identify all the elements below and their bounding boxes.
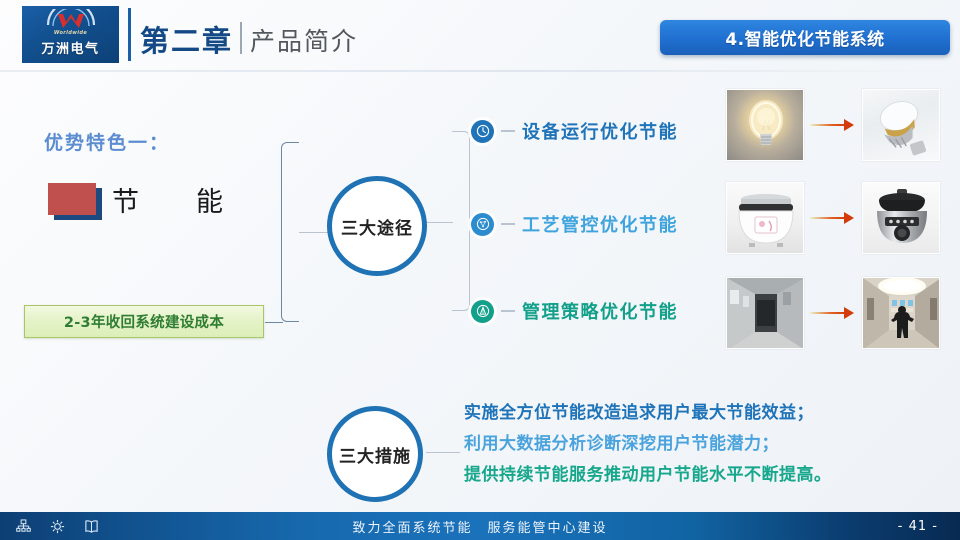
three-measures-circle: 三大措施: [327, 406, 423, 502]
header-accent-line: [0, 70, 960, 72]
path-label-0: 设备运行优化节能: [522, 118, 678, 144]
section-banner: 4.智能优化节能系统: [660, 20, 950, 55]
feature-label: 优势特色一：: [44, 128, 170, 155]
energy-keyword: 节 能: [112, 180, 224, 219]
incandescent-bulb-image: [726, 89, 804, 161]
w-logo-icon: [44, 9, 98, 31]
path-item-equipment[interactable]: 设备运行优化节能: [471, 118, 678, 144]
lit-corridor-image: [862, 277, 940, 349]
measure-line-1: 利用大数据分析诊断深挖用户节能潜力；: [464, 429, 954, 460]
right-bracket-connector: [452, 131, 470, 311]
measure-line-2: 提供持续节能服务推动用户节能水平不断提高。: [464, 460, 954, 491]
orange-arrow-icon: [804, 113, 862, 137]
path-item-process[interactable]: 工艺管控优化节能: [471, 211, 678, 237]
three-measures-label: 三大措施: [339, 442, 411, 467]
image-row-corridor: [726, 277, 940, 349]
title-separator: [240, 22, 242, 54]
leaf-icon: [471, 300, 494, 323]
measure-line-0: 实施全方位节能改造追求用户最大节能效益；: [464, 398, 954, 429]
path-dash-1: [501, 223, 515, 224]
slide-canvas: Worldwide 万洲电气 第二章 产品简介 4.智能优化节能系统 优势特色一…: [0, 0, 960, 540]
payback-callout-label: 2-3年收回系统建设成本: [64, 311, 224, 332]
path-item-management[interactable]: 管理策略优化节能: [471, 298, 678, 324]
company-logo: Worldwide 万洲电气: [22, 6, 119, 63]
left-bracket-stub: [265, 322, 283, 323]
chapter-subtitle: 产品简介: [250, 22, 358, 58]
pressure-cooker-image: [862, 182, 940, 254]
orange-arrow-icon: [804, 206, 862, 230]
image-row-cooker: [726, 182, 940, 254]
path-label-2: 管理策略优化节能: [522, 298, 678, 324]
rice-cooker-image: [726, 182, 804, 254]
measures-text-block: 实施全方位节能改造追求用户最大节能效益； 利用大数据分析诊断深挖用户节能潜力； …: [464, 398, 954, 491]
dark-corridor-image: [726, 277, 804, 349]
payback-callout: 2-3年收回系统建设成本: [24, 305, 264, 338]
header-divider: [128, 8, 131, 61]
paths-circle-right-stub: [426, 222, 453, 223]
path-dash-0: [501, 130, 515, 131]
footer-slogan: 致力全面系统节能 服务能管中心建设: [0, 517, 960, 536]
measures-circle-stub: [426, 452, 460, 453]
section-banner-label: 4.智能优化节能系统: [725, 25, 884, 50]
network-icon: [471, 213, 494, 236]
color-swatch: [48, 183, 96, 215]
three-paths-circle: 三大途径: [327, 176, 427, 276]
page-number: - 41 -: [898, 519, 938, 534]
paths-circle-left-stub: [299, 232, 329, 233]
left-bracket-connector: [281, 142, 299, 322]
chapter-title: 第二章: [140, 18, 233, 60]
image-row-lighting: [726, 89, 940, 161]
led-bulb-image: [862, 89, 940, 161]
three-paths-label: 三大途径: [341, 214, 413, 239]
path-label-1: 工艺管控优化节能: [522, 211, 678, 237]
logo-company-name: 万洲电气: [41, 38, 99, 57]
slide-footer: 致力全面系统节能 服务能管中心建设 - 41 -: [0, 512, 960, 540]
orange-arrow-icon: [804, 301, 862, 325]
clock-icon: [471, 120, 494, 143]
path-dash-2: [501, 310, 515, 311]
